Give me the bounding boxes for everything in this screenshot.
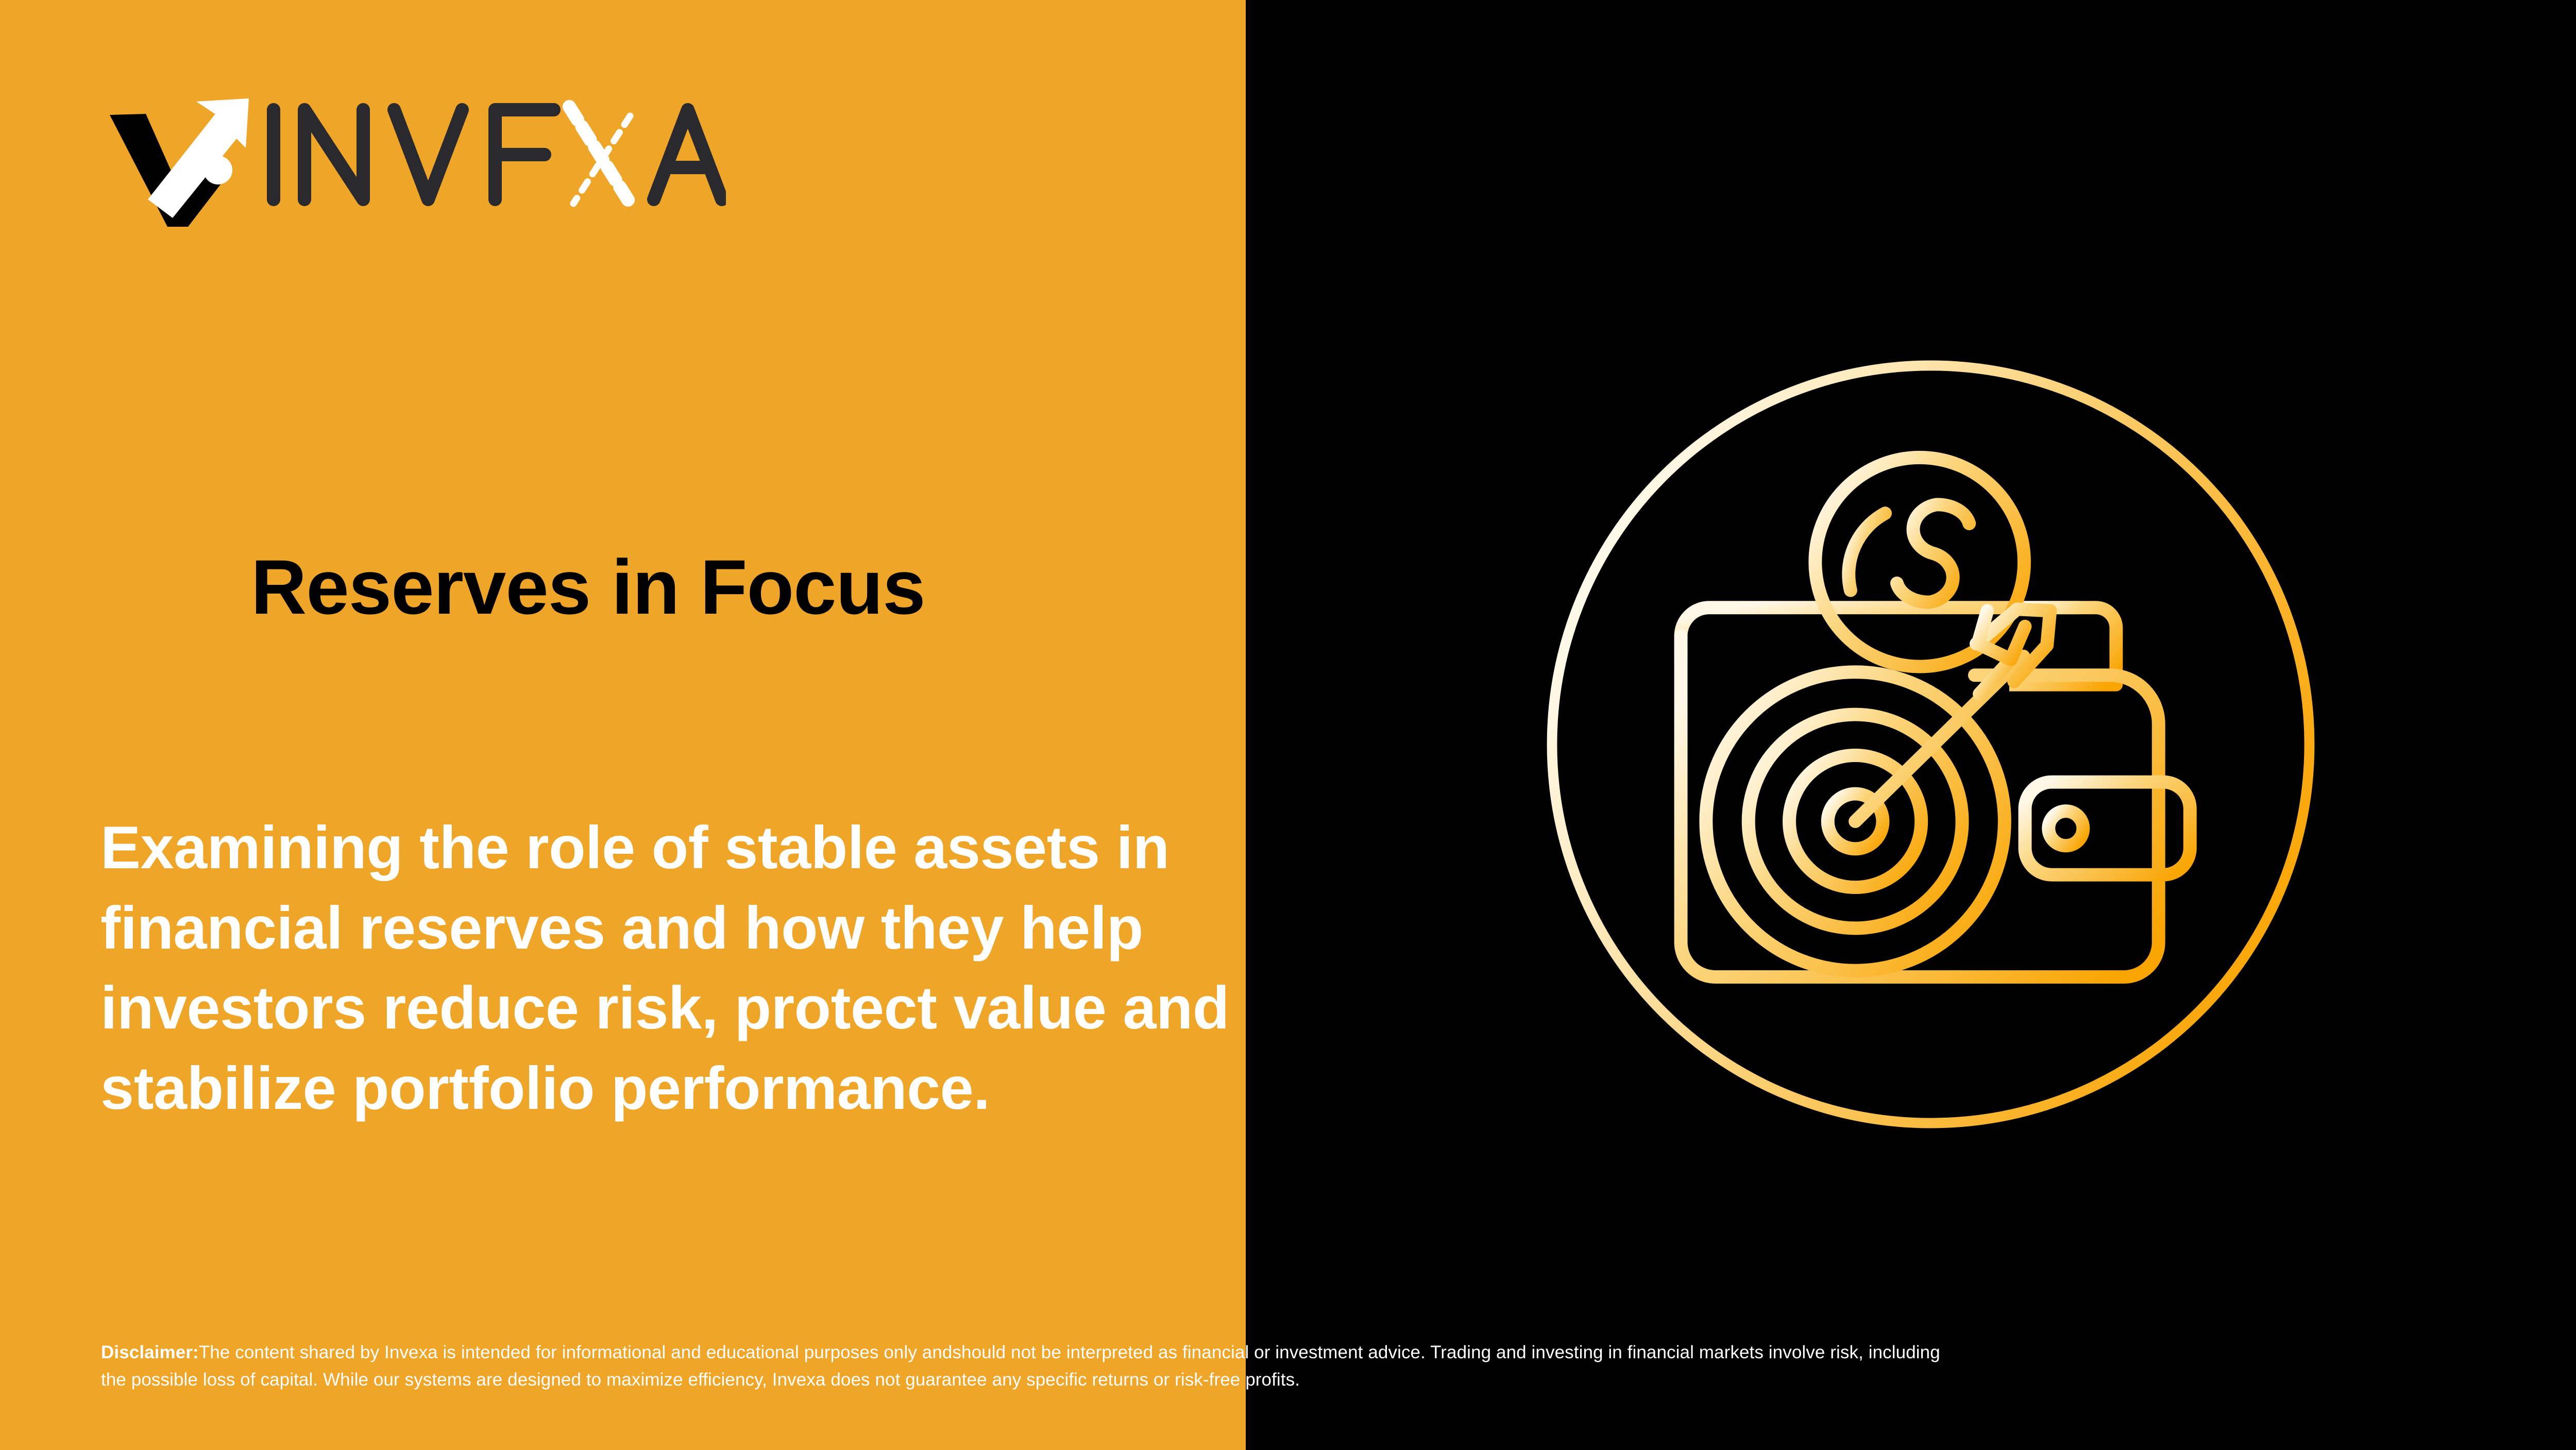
invexa-wordmark [262,95,726,214]
slide-canvas: Reserves in Focus Examining the role of … [0,0,2576,1450]
page-title: Reserves in Focus [251,547,1230,628]
disclaimer-text: The content shared by Invexa is intended… [101,1342,1940,1390]
invexa-v-arrow-icon [100,80,255,229]
wallet-clasp-dot [2048,811,2083,846]
brand-logo[interactable] [100,80,729,229]
disclaimer: Disclaimer:The content shared by Invexa … [101,1339,1966,1393]
dollar-sign [1897,458,1969,646]
disclaimer-label: Disclaimer: [101,1342,199,1362]
wallet-target-dollar-icon [1538,351,2324,1137]
coin-highlight-arc [1849,513,1885,590]
body-paragraph: Examining the role of stable assets in f… [100,807,1249,1128]
